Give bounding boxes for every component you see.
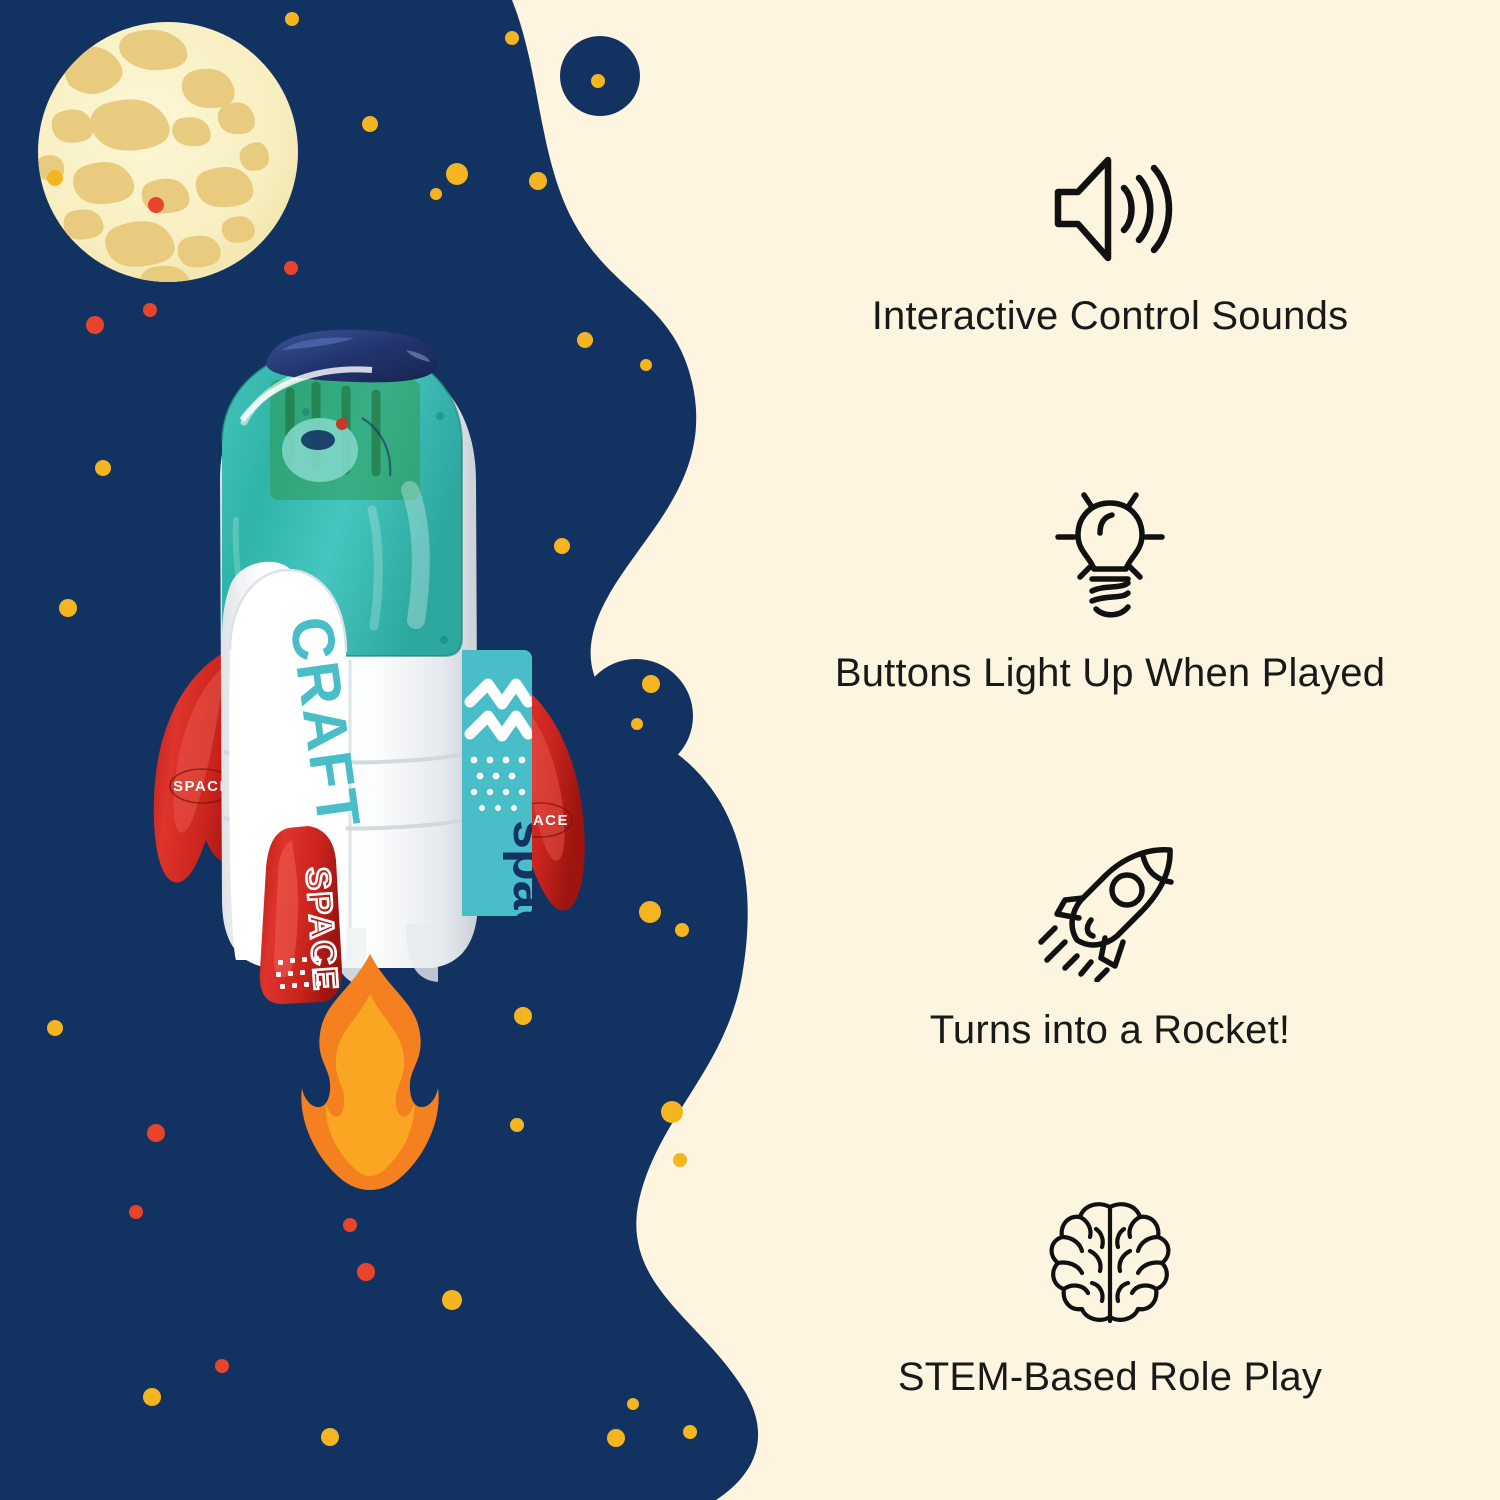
- rocket-flame: [270, 940, 470, 1200]
- feature-label: Turns into a Rocket!: [930, 1008, 1290, 1053]
- product-image-rocket-toy: SPACE SPACE: [110, 320, 650, 1220]
- speaker-sound-icon: [1040, 150, 1180, 268]
- feature-item-turns-into-rocket: Turns into a Rocket!: [760, 842, 1460, 1053]
- feature-label: Buttons Light Up When Played: [835, 651, 1385, 696]
- brain-icon: [1040, 1199, 1180, 1329]
- feature-label: Interactive Control Sounds: [872, 294, 1349, 339]
- feature-item-stem-role-play: STEM-Based Role Play: [760, 1199, 1460, 1400]
- feature-list: Interactive Control Sounds: [760, 150, 1460, 1400]
- feature-label: STEM-Based Role Play: [898, 1355, 1322, 1400]
- lightbulb-icon: [1040, 485, 1180, 625]
- infographic-canvas: SPACE SPACE: [0, 0, 1500, 1500]
- feature-item-buttons-light-up: Buttons Light Up When Played: [760, 485, 1460, 696]
- rocket-top-cap: [266, 330, 438, 383]
- rocket-icon: [1035, 842, 1185, 982]
- feature-item-interactive-control-sounds: Interactive Control Sounds: [760, 150, 1460, 339]
